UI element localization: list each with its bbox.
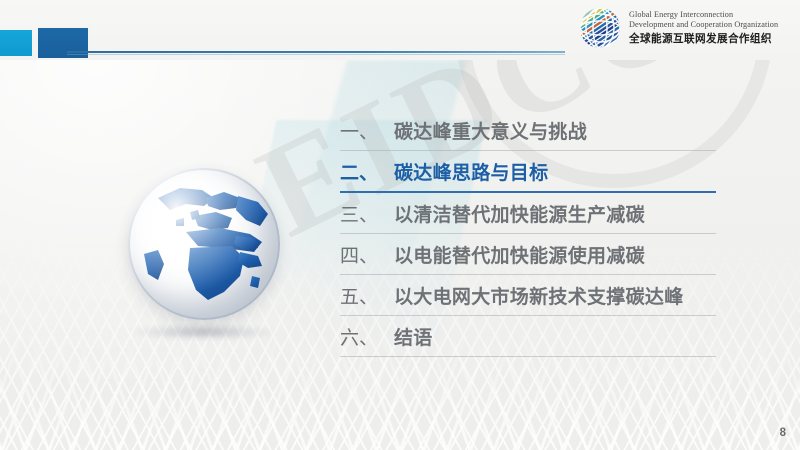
agenda-item-6[interactable]: 六、 结语 (340, 316, 716, 357)
agenda-item-5-label: 以大电网大市场新技术支撑碳达峰 (394, 282, 684, 309)
slide-canvas: GEIDCO (0, 0, 800, 450)
agenda-item-5-number: 五、 (340, 282, 394, 309)
globe-sphere (128, 168, 280, 320)
logo-english-line-2: Development and Cooperation Organization (629, 20, 778, 31)
agenda-item-1-number: 一、 (340, 117, 394, 144)
agenda-item-3[interactable]: 三、 以清洁替代加快能源生产减碳 (340, 193, 716, 234)
agenda-item-3-number: 三、 (340, 200, 394, 227)
agenda-item-2-label: 碳达峰思路与目标 (394, 158, 548, 185)
organization-logo: Global Energy Interconnection Developmen… (578, 6, 778, 50)
agenda-item-4-label: 以电能替代加快能源使用减碳 (394, 241, 645, 268)
agenda-item-3-label: 以清洁替代加快能源生产减碳 (394, 200, 645, 227)
page-number: 8 (780, 427, 786, 439)
agenda-item-1-label: 碳达峰重大意义与挑战 (394, 117, 587, 144)
header-accent-block-cyan (0, 30, 32, 56)
agenda-item-4[interactable]: 四、 以电能替代加快能源使用减碳 (340, 234, 716, 275)
logo-english-line-1: Global Energy Interconnection (629, 10, 778, 21)
logo-chinese-line: 全球能源互联网发展合作组织 (629, 32, 778, 47)
globe-drop-shadow (134, 324, 274, 340)
agenda-item-2[interactable]: 二、 碳达峰思路与目标 (340, 151, 716, 193)
geidco-globe-logo-icon (578, 6, 622, 50)
slide-header: Global Energy Interconnection Developmen… (0, 0, 800, 64)
agenda-item-6-number: 六、 (340, 323, 394, 350)
header-divider-rule-thin (67, 54, 565, 55)
agenda-item-6-label: 结语 (394, 323, 433, 350)
globe-graphic (128, 168, 294, 348)
agenda-list: 一、 碳达峰重大意义与挑战 二、 碳达峰思路与目标 三、 以清洁替代加快能源生产… (340, 110, 716, 357)
agenda-item-5[interactable]: 五、 以大电网大市场新技术支撑碳达峰 (340, 275, 716, 316)
agenda-item-2-number: 二、 (340, 158, 394, 185)
logo-text-block: Global Energy Interconnection Developmen… (629, 10, 778, 47)
agenda-item-4-number: 四、 (340, 241, 394, 268)
agenda-item-1[interactable]: 一、 碳达峰重大意义与挑战 (340, 110, 716, 151)
header-divider-rule (67, 51, 565, 53)
